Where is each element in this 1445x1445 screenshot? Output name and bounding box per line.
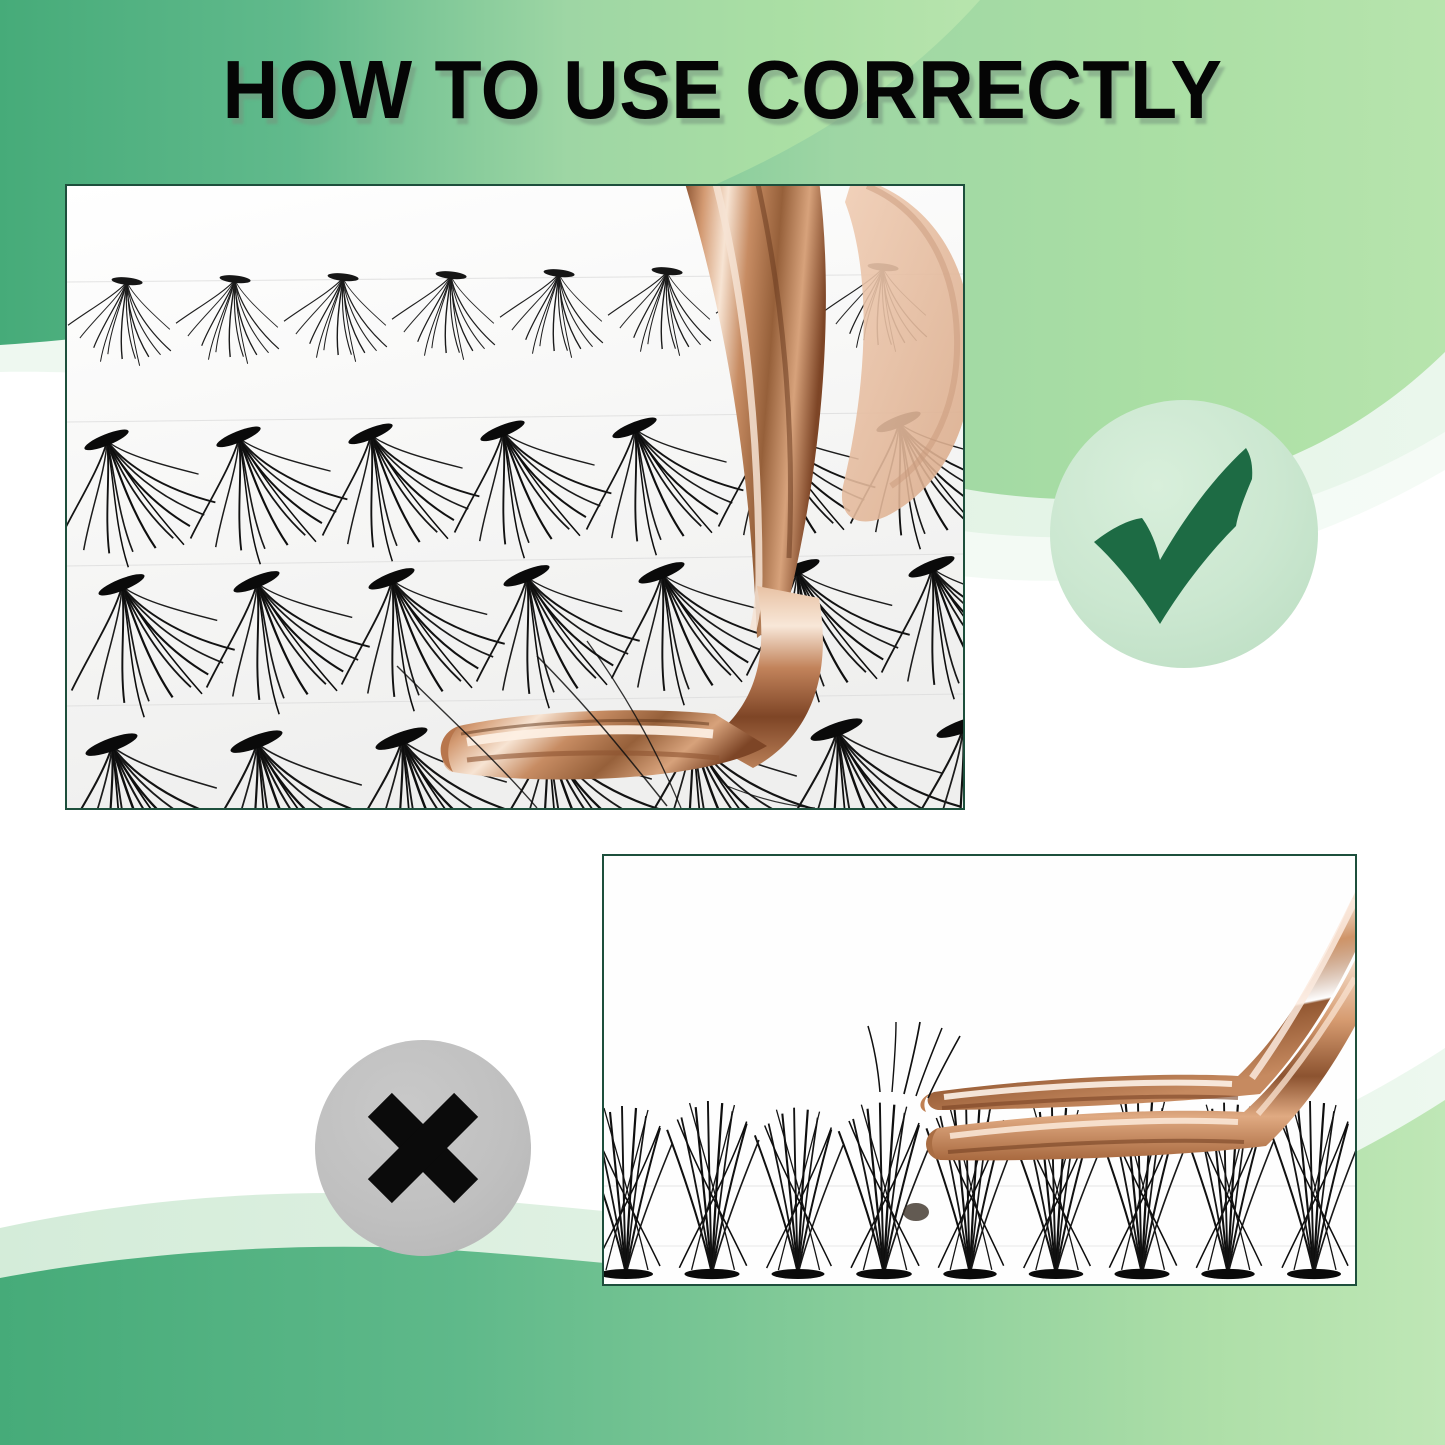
lash-tray-top-view-photo (65, 184, 965, 810)
check-mark-glyph (1050, 400, 1318, 668)
check-icon (1050, 400, 1318, 668)
lash-row-side-view-photo (602, 854, 1357, 1286)
cross-mark-glyph (315, 1040, 531, 1256)
cross-icon (315, 1040, 531, 1256)
lash-tray-illustration (67, 186, 963, 808)
infographic-canvas: HOW TO USE CORRECTLY (0, 0, 1445, 1445)
page-title: HOW TO USE CORRECTLY (51, 46, 1395, 134)
lash-row-illustration (604, 856, 1355, 1284)
